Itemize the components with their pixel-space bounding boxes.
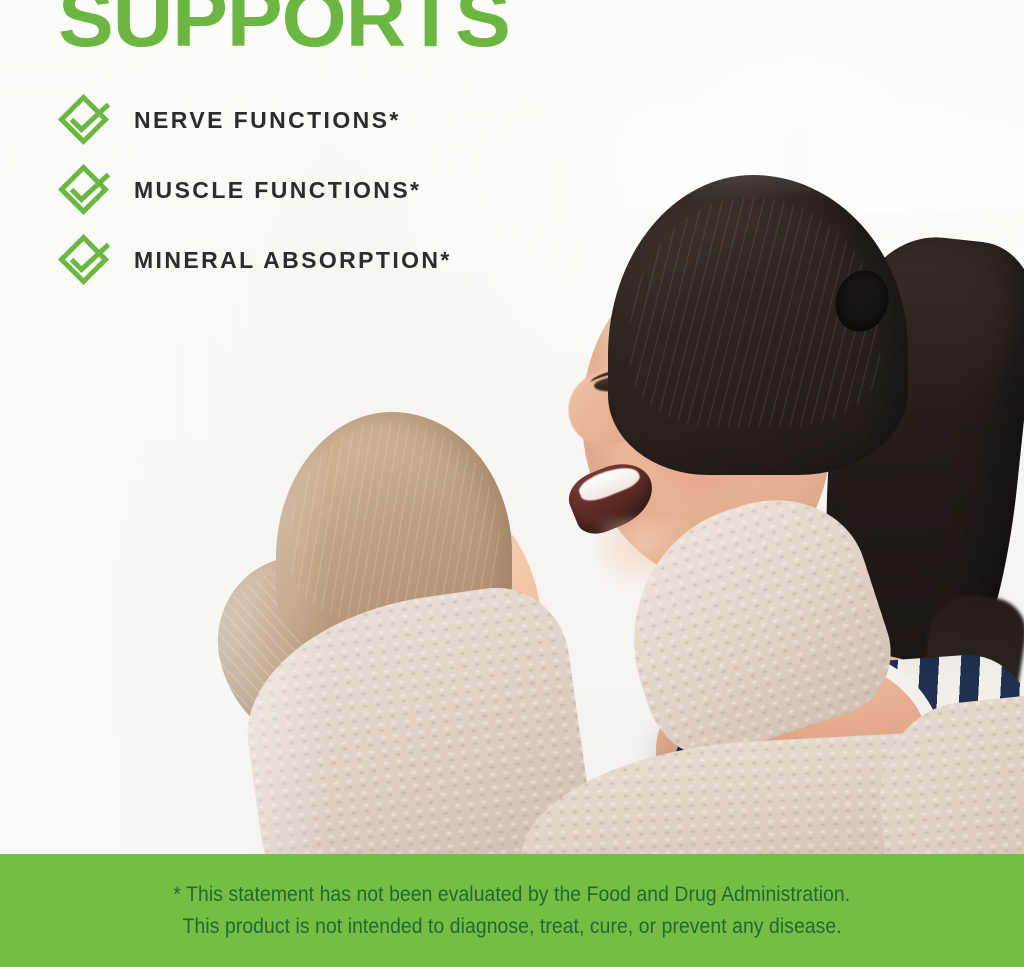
- text-overlay: SUPPORTS NERVE FUNCTIONS*: [0, 0, 1024, 860]
- disclaimer-line-1: * This statement has not been evaluated …: [174, 879, 851, 911]
- benefit-item-mineral-absorption: MINERAL ABSORPTION*: [56, 232, 452, 288]
- benefit-item-label: MINERAL ABSORPTION*: [134, 247, 452, 274]
- benefit-item-label: NERVE FUNCTIONS*: [134, 107, 401, 134]
- fda-disclaimer-banner: * This statement has not been evaluated …: [0, 854, 1024, 967]
- benefit-item-nerve-functions: NERVE FUNCTIONS*: [56, 92, 452, 148]
- benefit-item-muscle-functions: MUSCLE FUNCTIONS*: [56, 162, 452, 218]
- page-title: SUPPORTS: [58, 0, 510, 60]
- check-diamond-icon: [56, 232, 112, 288]
- benefit-list: NERVE FUNCTIONS* MUSCLE FUNCTIONS*: [56, 92, 452, 302]
- benefit-item-label: MUSCLE FUNCTIONS*: [134, 177, 421, 204]
- product-benefits-banner: SUPPORTS NERVE FUNCTIONS*: [0, 0, 1024, 967]
- check-diamond-icon: [56, 92, 112, 148]
- check-diamond-icon: [56, 162, 112, 218]
- disclaimer-line-2: This product is not intended to diagnose…: [182, 911, 841, 943]
